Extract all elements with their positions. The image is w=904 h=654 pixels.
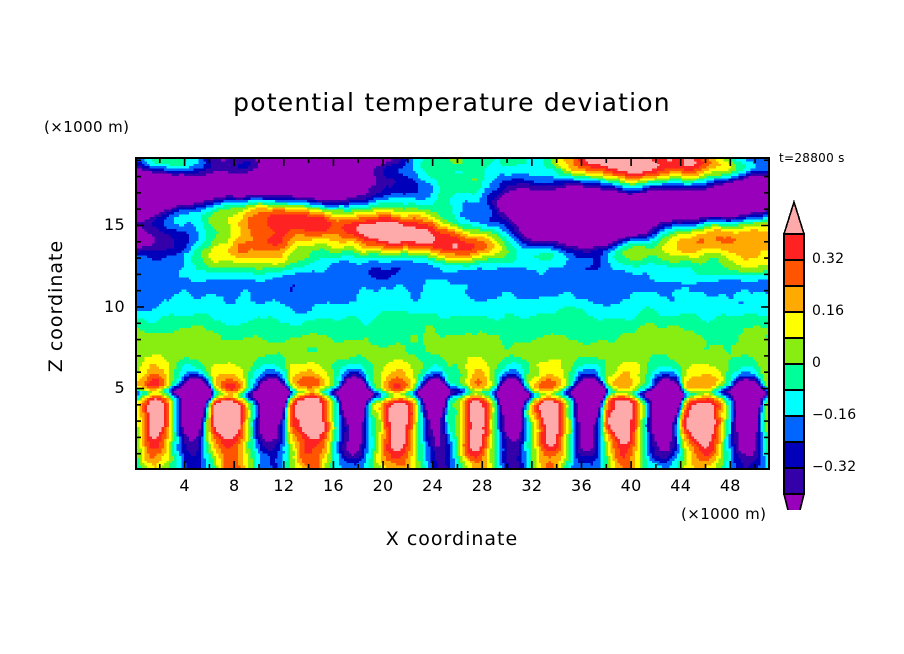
contour-plot-area	[135, 157, 770, 470]
colorbar-tick-label: 0.32	[812, 251, 844, 267]
x-axis-title: X coordinate	[0, 528, 904, 550]
plot-canvas: potential temperature deviation (×1000 m…	[0, 0, 904, 654]
colorbar-band[interactable]	[784, 442, 804, 468]
x-tick-label: 44	[661, 476, 701, 495]
y-tick-label: 10	[85, 297, 125, 316]
x-tick-label: 16	[313, 476, 353, 495]
x-axis-unit-label: (×1000 m)	[681, 505, 766, 523]
colorbar-band[interactable]	[784, 286, 804, 312]
contour-field	[137, 159, 768, 468]
x-tick-label: 8	[214, 476, 254, 495]
colorbar-band[interactable]	[784, 312, 804, 338]
timestamp-label: t=28800 s	[779, 151, 845, 165]
colorbar-band[interactable]	[784, 364, 804, 390]
x-tick-label: 20	[363, 476, 403, 495]
colorbar[interactable]	[778, 200, 812, 510]
colorbar-tick-label: −0.16	[812, 407, 856, 423]
x-tick-label: 4	[165, 476, 205, 495]
x-tick-label: 24	[413, 476, 453, 495]
colorbar-band[interactable]	[784, 468, 804, 494]
colorbar-band[interactable]	[784, 260, 804, 286]
colorbar-tick-label: 0.16	[812, 303, 844, 319]
colorbar-over-arrow	[784, 202, 804, 234]
x-tick-label: 40	[611, 476, 651, 495]
colorbar-band[interactable]	[784, 390, 804, 416]
colorbar-under-arrow	[784, 494, 804, 510]
colorbar-tick-label: −0.32	[812, 459, 856, 475]
x-tick-label: 32	[512, 476, 552, 495]
y-tick-label: 5	[85, 378, 125, 397]
x-tick-label: 12	[264, 476, 304, 495]
x-tick-label: 28	[462, 476, 502, 495]
colorbar-band[interactable]	[784, 234, 804, 260]
z-axis-unit-label: (×1000 m)	[44, 118, 129, 136]
page-title: potential temperature deviation	[0, 88, 904, 117]
x-tick-label: 48	[710, 476, 750, 495]
colorbar-band[interactable]	[784, 416, 804, 442]
y-tick-label: 15	[85, 215, 125, 234]
colorbar-band[interactable]	[784, 338, 804, 364]
y-axis-title: Z coordinate	[45, 206, 67, 406]
x-tick-label: 36	[561, 476, 601, 495]
colorbar-tick-label: 0	[812, 355, 821, 371]
